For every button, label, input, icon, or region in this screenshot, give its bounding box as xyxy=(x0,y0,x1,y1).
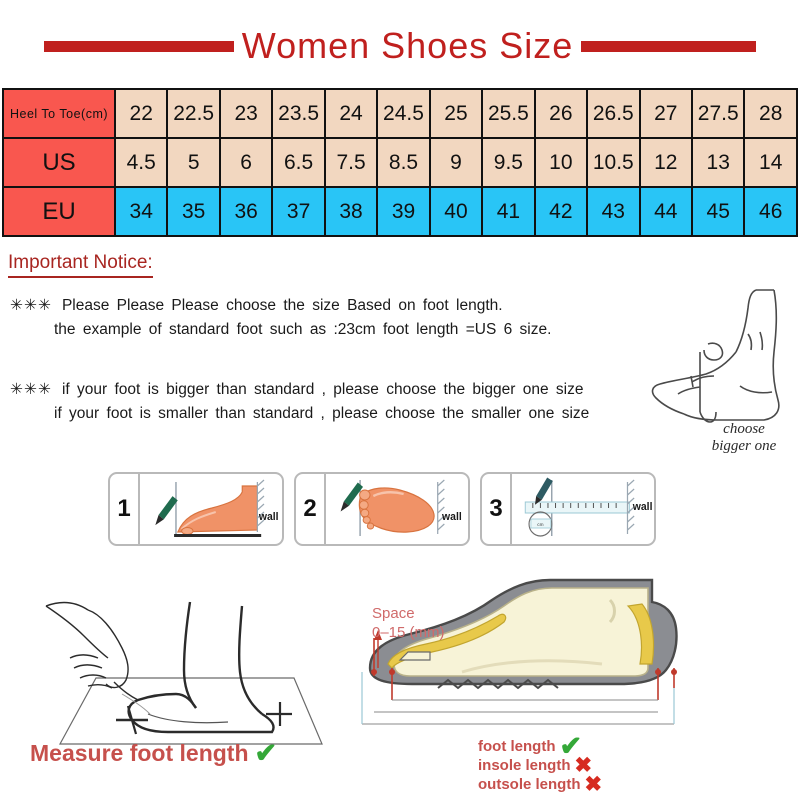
measurement-label: insole length xyxy=(478,756,571,775)
cell-eu-0: 34 xyxy=(115,187,167,236)
cell-eu-2: 36 xyxy=(220,187,272,236)
measurement-label: outsole length xyxy=(478,775,581,794)
step-number: 3 xyxy=(482,474,512,544)
row-label-eu: EU xyxy=(3,187,115,236)
cell-cm-1: 22.5 xyxy=(167,89,219,138)
notice-line: the example of standard foot such as :23… xyxy=(10,318,551,342)
cell-cm-6: 25 xyxy=(430,89,482,138)
ruler-callout: cm xyxy=(537,523,543,528)
step-3-illustration-icon: cm wall xyxy=(512,474,654,544)
cell-us-9: 10.5 xyxy=(587,138,639,187)
caption-line-1: choose xyxy=(684,421,800,438)
size-chart-page: Women Shoes Size Heel To Toe(cm)2222.523… xyxy=(0,0,800,800)
cell-us-6: 9 xyxy=(430,138,482,187)
notice-line: ✳✳✳Please Please Please choose the size … xyxy=(10,294,551,318)
cross-icon: ✖ xyxy=(585,775,603,794)
cell-us-4: 7.5 xyxy=(325,138,377,187)
cell-us-2: 6 xyxy=(220,138,272,187)
cell-cm-7: 25.5 xyxy=(482,89,534,138)
cell-cm-11: 27.5 xyxy=(692,89,744,138)
cell-us-3: 6.5 xyxy=(272,138,324,187)
size-conversion-table: Heel To Toe(cm)2222.52323.52424.52525.52… xyxy=(2,88,798,237)
cell-us-10: 12 xyxy=(640,138,692,187)
notice-text: if your foot is bigger than standard , p… xyxy=(62,381,584,398)
page-title-row: Women Shoes Size xyxy=(0,22,800,70)
cell-eu-8: 42 xyxy=(535,187,587,236)
wall-label-2: wall xyxy=(441,511,462,523)
cell-cm-5: 24.5 xyxy=(377,89,429,138)
caption-line-2: bigger one xyxy=(684,438,800,455)
measure-label-text: Measure foot length xyxy=(30,740,249,767)
cell-us-8: 10 xyxy=(535,138,587,187)
notice-line: ✳✳✳if your foot is bigger than standard … xyxy=(10,378,589,402)
measure-foot-length-label: Measure foot length ✔ xyxy=(30,738,277,769)
table-row: Heel To Toe(cm)2222.52323.52424.52525.52… xyxy=(3,89,797,138)
length-measurement-labels: foot length✔insole length✖outsole length… xyxy=(478,737,602,794)
cell-us-1: 5 xyxy=(167,138,219,187)
cell-us-0: 4.5 xyxy=(115,138,167,187)
notice-line: if your foot is smaller than standard , … xyxy=(10,402,589,426)
cell-cm-3: 23.5 xyxy=(272,89,324,138)
wall-label-1: wall xyxy=(258,511,279,523)
cell-eu-6: 40 xyxy=(430,187,482,236)
notice-text: the example of standard foot such as :23… xyxy=(54,321,551,338)
asterisk-marker-icon: ✳✳✳ xyxy=(10,381,52,398)
cell-cm-10: 27 xyxy=(640,89,692,138)
cell-cm-9: 26.5 xyxy=(587,89,639,138)
cell-eu-1: 35 xyxy=(167,187,219,236)
step-2: 2 xyxy=(294,472,470,546)
table-row: US4.5566.57.58.599.51010.5121314 xyxy=(3,138,797,187)
wall-label-3: wall xyxy=(632,501,653,513)
title-rule-left xyxy=(44,41,234,52)
cell-us-12: 14 xyxy=(744,138,797,187)
space-line-1: Space xyxy=(372,604,445,623)
cell-cm-12: 28 xyxy=(744,89,797,138)
cell-cm-0: 22 xyxy=(115,89,167,138)
notice-heading: Important Notice: xyxy=(8,252,153,278)
step-1-illustration-icon: wall xyxy=(140,474,282,544)
cell-cm-2: 23 xyxy=(220,89,272,138)
row-label-cm: Heel To Toe(cm) xyxy=(3,89,115,138)
title-rule-right xyxy=(581,41,756,52)
cell-us-11: 13 xyxy=(692,138,744,187)
cell-eu-11: 45 xyxy=(692,187,744,236)
table-row: EU34353637383940414243444546 xyxy=(3,187,797,236)
space-line-2: 0–15 (mm) xyxy=(372,623,445,642)
checkmark-icon: ✔ xyxy=(255,738,278,769)
space-callout-label: Space 0–15 (mm) xyxy=(372,604,445,642)
cell-eu-9: 43 xyxy=(587,187,639,236)
cell-cm-8: 26 xyxy=(535,89,587,138)
cell-eu-3: 37 xyxy=(272,187,324,236)
notice-text: if your foot is smaller than standard , … xyxy=(54,405,589,422)
measurement-row: outsole length✖ xyxy=(478,775,602,794)
cell-eu-5: 39 xyxy=(377,187,429,236)
cell-us-5: 8.5 xyxy=(377,138,429,187)
measurement-steps: 1 xyxy=(108,472,656,546)
cell-eu-10: 44 xyxy=(640,187,692,236)
cell-cm-4: 24 xyxy=(325,89,377,138)
cell-eu-4: 38 xyxy=(325,187,377,236)
row-label-us: US xyxy=(3,138,115,187)
notice-block-1: ✳✳✳Please Please Please choose the size … xyxy=(10,294,551,342)
step-number: 1 xyxy=(110,474,140,544)
notice-block-2: ✳✳✳if your foot is bigger than standard … xyxy=(10,378,589,426)
cell-us-7: 9.5 xyxy=(482,138,534,187)
step-3: 3 cm xyxy=(480,472,656,546)
foot-sketch-caption: choose bigger one xyxy=(684,421,800,455)
step-1: 1 xyxy=(108,472,284,546)
step-number: 2 xyxy=(296,474,326,544)
measurement-row: insole length✖ xyxy=(478,756,602,775)
cell-eu-7: 41 xyxy=(482,187,534,236)
cell-eu-12: 46 xyxy=(744,187,797,236)
page-title: Women Shoes Size xyxy=(242,25,574,67)
shoe-cross-section-illustration-icon xyxy=(352,572,798,732)
measurement-label: foot length xyxy=(478,737,555,756)
notice-text: Please Please Please choose the size Bas… xyxy=(62,297,503,314)
step-2-illustration-icon: wall xyxy=(326,474,468,544)
asterisk-marker-icon: ✳✳✳ xyxy=(10,297,52,314)
